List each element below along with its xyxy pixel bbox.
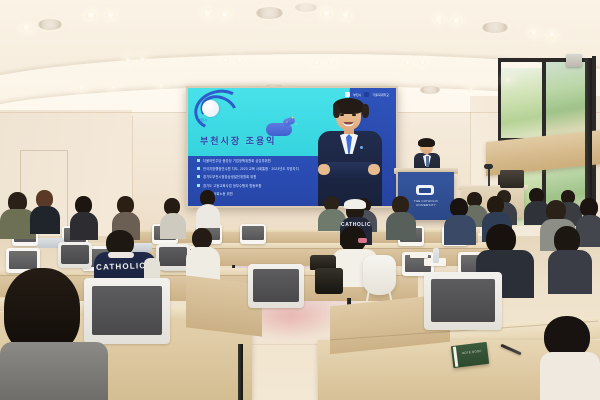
wall-speaker-icon	[566, 54, 582, 67]
portrait-lapel-pin	[360, 146, 363, 149]
ceiling-downlight	[468, 88, 474, 92]
ceiling-downlight	[341, 13, 350, 19]
bullet-square-icon	[197, 159, 200, 162]
slide-logo-right-text: 가톨릭대학교	[372, 93, 389, 97]
person-torso	[444, 215, 476, 245]
jacket-text-catholic: CATHOLIC	[96, 261, 147, 272]
desk-monitor[interactable]	[240, 224, 266, 244]
portrait-eye	[352, 114, 356, 116]
chair-mesh	[431, 279, 495, 322]
ceiling-ring-fixture	[38, 19, 62, 30]
chair-mesh	[61, 245, 89, 264]
person-torso	[70, 212, 98, 240]
projection-screen: 부천시 부천시장 조용익 부천시 가톨릭대학교 더불어민주당 중앙당 기업정책위…	[186, 86, 398, 208]
ceiling-downlight	[139, 57, 146, 62]
podium-logo-inner	[419, 188, 431, 193]
hand-index-finger	[282, 116, 296, 126]
list-item: 경기도 고등교육사업 정부수행과 협동조합	[197, 183, 319, 188]
ceiling-downlight	[434, 16, 443, 22]
microphone-icon	[484, 164, 493, 169]
portrait-hand	[368, 164, 380, 175]
slide-title: 부천시장 조용익	[200, 134, 276, 147]
bullet-square-icon	[197, 184, 200, 187]
person-head	[192, 228, 212, 249]
slide-emblem-label: 부천시	[198, 118, 207, 122]
bullet-text: 전국지방행정연수원 지도, 2023 교육 사회통합 · 2023년도 지방자치	[203, 166, 299, 171]
person-torso	[0, 342, 108, 400]
ceiling-downlight	[106, 13, 115, 19]
ceiling-ring-fixture	[420, 86, 440, 94]
ceiling-downlight	[419, 60, 426, 65]
wall-smoke-detector-icon	[504, 78, 512, 82]
list-item: 경기도부천시청장상생발전위원회 위원	[197, 174, 319, 179]
ceiling-ring-fixture	[256, 7, 283, 19]
person-torso	[386, 212, 416, 240]
city-logo-icon	[345, 92, 350, 97]
notebook-spine	[453, 347, 458, 367]
ceiling-downlight	[221, 12, 229, 18]
chair-mesh	[253, 269, 299, 302]
ceiling-downlight	[86, 12, 96, 19]
chair-mesh	[92, 286, 163, 335]
chair-mesh	[159, 247, 187, 266]
slide-emblem	[202, 100, 219, 117]
university-logo-icon	[364, 92, 369, 97]
monitor-screen	[9, 251, 38, 269]
notebook[interactable]	[451, 342, 489, 368]
ceiling-downlight	[548, 32, 556, 38]
slide-canvas: 부천시 부천시장 조용익 부천시 가톨릭대학교 더불어민주당 중앙당 기업정책위…	[188, 88, 396, 206]
chair-back	[424, 272, 502, 330]
bullet-square-icon	[197, 167, 200, 170]
ceiling-downlight	[158, 84, 164, 88]
monitor-screen	[242, 226, 264, 240]
person-torso	[30, 206, 60, 234]
ceiling-downlight	[404, 61, 411, 66]
ceiling-downlight	[452, 18, 461, 24]
chair-back	[248, 264, 304, 308]
ceiling-downlight	[328, 60, 335, 65]
ceiling-downlight	[313, 61, 320, 66]
ceiling-downlight	[78, 86, 85, 91]
person-torso	[540, 352, 600, 400]
ceiling-downlight	[203, 11, 212, 17]
ceiling-downlight	[22, 25, 31, 31]
foreground-desk-leg	[238, 344, 243, 400]
slide-bullet-list: 더불어민주당 중앙당 기업정책위원회 상임부위원 전국지방행정연수원 지도, 2…	[197, 158, 319, 199]
bullet-square-icon	[197, 175, 200, 178]
presenter-hair	[418, 138, 435, 147]
podium-logo-caption: THE CATHOLIC UNIVERSITY	[406, 199, 446, 207]
ceiling-downlight	[110, 86, 116, 90]
person-torso	[196, 204, 220, 228]
ceiling-ring-fixture	[295, 3, 317, 12]
person-torso	[160, 213, 186, 239]
chair-back	[58, 242, 92, 268]
bullet-text: 경기도부천시청장상생발전위원회 위원	[203, 174, 256, 179]
person-head	[546, 200, 566, 221]
ceiling-downlight	[530, 30, 538, 36]
list-item: 더불어민주당 중앙당 기업정책위원회 상임부위원	[197, 158, 319, 163]
water-bottle	[433, 248, 439, 263]
portrait-eye	[340, 114, 344, 116]
hair-clip-icon	[358, 238, 367, 243]
list-item: 전국지방행정연수원 지도, 2023 교육 사회통합 · 2023년도 지방자치	[197, 166, 319, 171]
podium-logo-icon	[414, 185, 436, 198]
ceiling-downlight	[222, 58, 229, 63]
backpack	[315, 268, 343, 294]
slide-logo-left-text: 부천시	[353, 93, 361, 97]
baseball-cap-icon	[344, 199, 366, 209]
ceiling-ring-fixture	[482, 22, 508, 33]
chair-back	[156, 244, 190, 270]
microphone-stand	[488, 168, 490, 186]
jacket-collar	[108, 252, 134, 258]
paper-sheet	[410, 252, 428, 258]
slide-logo-row: 부천시 가톨릭대학교	[345, 92, 389, 97]
portrait-hand	[318, 164, 330, 175]
ceiling-downlight	[322, 11, 331, 17]
bullet-text: 경기도 고등교육사업 정부수행과 협동조합	[203, 183, 262, 188]
portrait-hair-side	[362, 104, 369, 118]
slide-portrait	[314, 98, 388, 206]
chair-back	[84, 278, 170, 344]
lecture-hall-photo: 부천시 부천시장 조용익 부천시 가톨릭대학교 더불어민주당 중앙당 기업정책위…	[0, 0, 600, 400]
equipment-case	[500, 170, 524, 188]
ceiling-downlight	[124, 58, 132, 63]
person-torso	[548, 250, 592, 294]
list-item: 부천시 사회노동 위원	[197, 191, 319, 196]
ceiling-downlight	[236, 58, 243, 63]
presenter-tie	[426, 156, 429, 167]
bullet-text: 더불어민주당 중앙당 기업정책위원회 상임부위원	[203, 158, 271, 163]
portrait-hair-side	[333, 104, 340, 118]
